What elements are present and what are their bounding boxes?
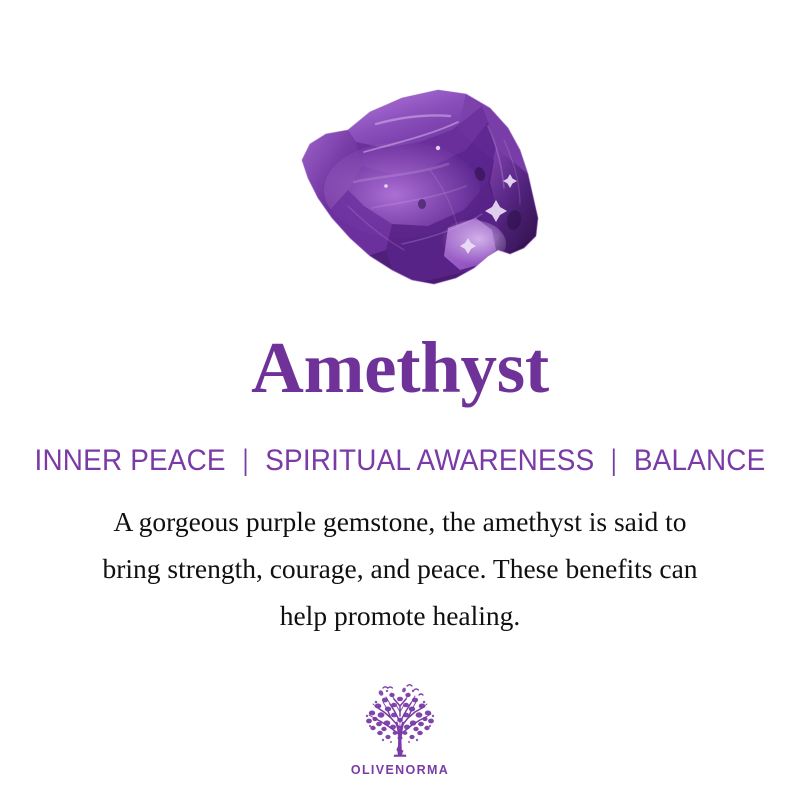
amethyst-crystal-icon — [252, 78, 564, 304]
brand-logo: OLIVENORMA — [0, 682, 800, 777]
keyword-spiritual-awareness: SPIRITUAL AWARENESS — [265, 444, 594, 477]
tree-icon — [357, 682, 443, 758]
description-line: A gorgeous purple gemstone, the amethyst… — [50, 498, 750, 545]
page-title: Amethyst — [0, 331, 800, 404]
hero-image-area — [0, 78, 800, 304]
description-text: A gorgeous purple gemstone, the amethyst… — [50, 498, 750, 639]
crystal-body — [252, 78, 564, 304]
amethyst-gemstone-image — [252, 78, 564, 304]
description-line: bring strength, courage, and peace. Thes… — [50, 545, 750, 592]
keyword-separator: | — [236, 443, 255, 479]
keyword-separator: | — [605, 443, 624, 479]
keyword-inner-peace: INNER PEACE — [35, 444, 226, 477]
brand-name: OLIVENORMA — [351, 763, 449, 777]
description-line: help promote healing. — [50, 592, 750, 639]
keyword-list: INNER PEACE | SPIRITUAL AWARENESS | BALA… — [28, 443, 772, 479]
amethyst-info-card: Amethyst INNER PEACE | SPIRITUAL AWARENE… — [0, 0, 800, 800]
keyword-balance: BALANCE — [634, 444, 766, 477]
